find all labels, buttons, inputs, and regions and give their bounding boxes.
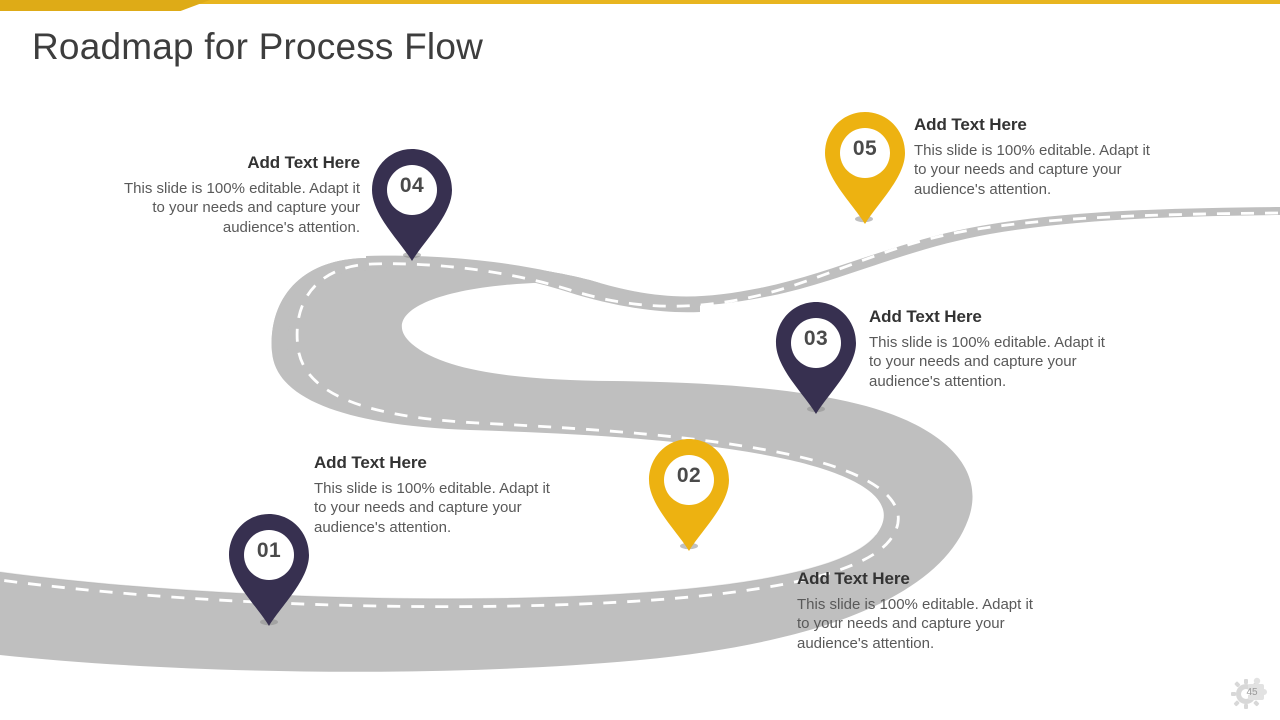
pin-shadows — [260, 216, 873, 625]
road-dashed-centerline — [0, 213, 1278, 607]
map-pin-05[interactable]: 05 — [819, 110, 911, 228]
milestone-text-05: Add Text Here This slide is 100% editabl… — [914, 116, 1164, 200]
map-pin-05-number: 05 — [819, 137, 911, 161]
milestone-01-body: This slide is 100% editable. Adapt it to… — [314, 479, 564, 538]
slide-canvas: Roadmap for Process Flow — [0, 0, 1280, 720]
milestone-text-04: Add Text Here This slide is 100% editabl… — [110, 154, 360, 238]
road-body — [0, 207, 1280, 672]
top-accent-block — [0, 0, 210, 11]
road-edge-shading — [0, 535, 876, 599]
map-pin-01[interactable]: 01 — [223, 512, 315, 630]
map-pin-01-number: 01 — [223, 539, 315, 563]
page-number: 45 — [1230, 687, 1274, 698]
map-pin-04-number: 04 — [366, 174, 458, 198]
milestone-text-03: Add Text Here This slide is 100% editabl… — [869, 308, 1119, 392]
page-number-watermark: 45 — [1230, 674, 1274, 714]
milestone-05-body: This slide is 100% editable. Adapt it to… — [914, 141, 1164, 200]
map-pin-04[interactable]: 04 — [366, 147, 458, 265]
milestone-text-01: Add Text Here This slide is 100% editabl… — [314, 454, 564, 538]
milestone-03-body: This slide is 100% editable. Adapt it to… — [869, 333, 1119, 392]
milestone-04-body: This slide is 100% editable. Adapt it to… — [110, 179, 360, 238]
map-pin-03-number: 03 — [770, 327, 862, 351]
map-pin-03[interactable]: 03 — [770, 300, 862, 418]
milestone-02-body: This slide is 100% editable. Adapt it to… — [797, 595, 1047, 654]
milestone-text-02: Add Text Here This slide is 100% editabl… — [797, 570, 1047, 654]
map-pin-02-number: 02 — [643, 464, 735, 488]
milestone-03-heading: Add Text Here — [869, 308, 1119, 327]
milestone-05-heading: Add Text Here — [914, 116, 1164, 135]
milestone-04-heading: Add Text Here — [110, 154, 360, 173]
milestone-02-heading: Add Text Here — [797, 570, 1047, 589]
milestone-01-heading: Add Text Here — [314, 454, 564, 473]
page-title: Roadmap for Process Flow — [32, 26, 483, 68]
map-pin-02[interactable]: 02 — [643, 437, 735, 555]
